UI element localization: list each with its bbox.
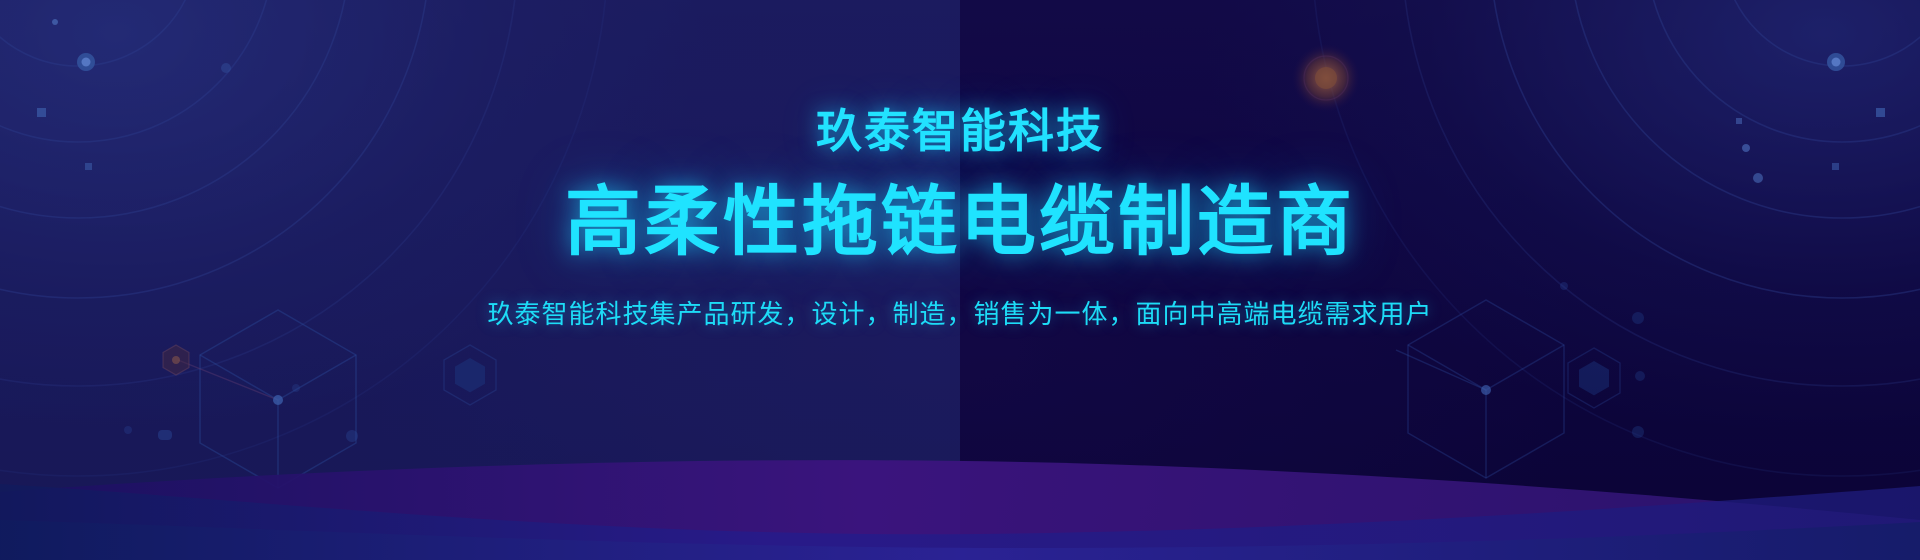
banner-subtitle: 玖泰智能科技集产品研发，设计，制造，销售为一体，面向中高端电缆需求用户 bbox=[487, 302, 1432, 328]
banner-content: 玖泰智能科技 高柔性拖链电缆制造商 玖泰智能科技集产品研发，设计，制造，销售为一… bbox=[0, 0, 1920, 560]
hero-banner: 玖泰智能科技 高柔性拖链电缆制造商 玖泰智能科技集产品研发，设计，制造，销售为一… bbox=[0, 0, 1920, 560]
brand-title: 玖泰智能科技 bbox=[816, 108, 1104, 154]
page-title: 高柔性拖链电缆制造商 bbox=[565, 184, 1355, 260]
